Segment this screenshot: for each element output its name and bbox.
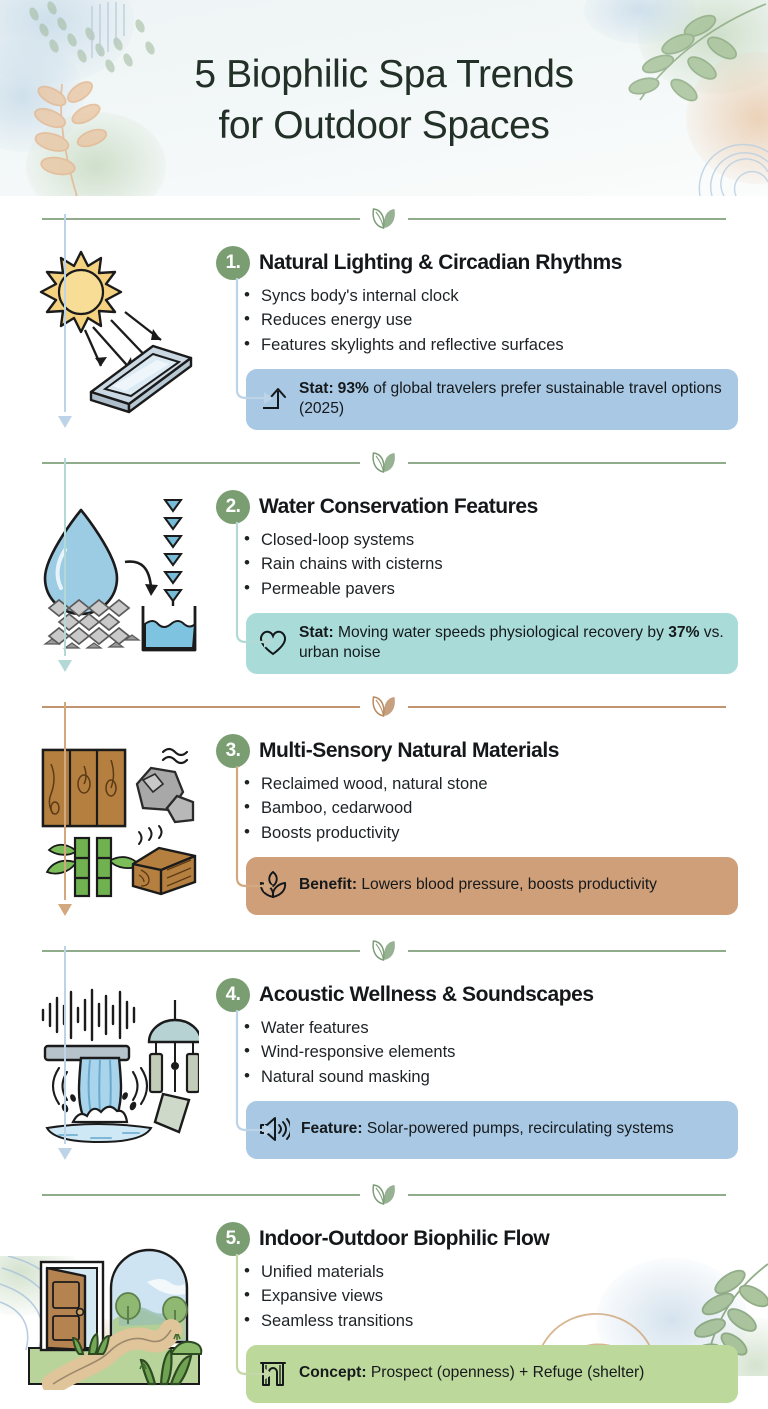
list-item: Features skylights and reflective surfac… — [244, 333, 738, 357]
leaf-divider-icon — [360, 450, 408, 474]
list-item: Water features — [244, 1016, 738, 1040]
trend-bullet-list: Unified materials Expansive views Seamle… — [244, 1260, 738, 1333]
stat-body: Solar-powered pumps, recirculating syste… — [363, 1120, 674, 1137]
waterfall-windchime-illustration — [16, 974, 212, 1166]
leaf-divider-icon — [360, 938, 408, 962]
stat-text: Feature: Solar-powered pumps, recirculat… — [301, 1119, 674, 1139]
trend-number-badge: 4. — [216, 978, 250, 1012]
trend-section-1: 1. Natural Lighting & Circadian Rhythms … — [0, 240, 768, 440]
section-divider — [0, 684, 768, 728]
trend-section-5: 5. Indoor-Outdoor Biophilic Flow Unified… — [0, 1216, 768, 1409]
trend-number-badge: 5. — [216, 1222, 250, 1256]
stat-label: Benefit: — [299, 876, 357, 893]
trend-content-3: 3. Multi-Sensory Natural Materials Recla… — [212, 730, 738, 922]
stat-text: Stat:93% of global travelers prefer sust… — [299, 379, 724, 420]
sections-container: 1. Natural Lighting & Circadian Rhythms … — [0, 196, 768, 1409]
stat-label: Concept: — [299, 1364, 367, 1381]
trend-header-3: 3. Multi-Sensory Natural Materials — [216, 734, 738, 768]
trend-content-4: 4. Acoustic Wellness & Soundscapes Water… — [212, 974, 738, 1166]
connector-elbow — [228, 1254, 274, 1384]
trend-header-2: 2. Water Conservation Features — [216, 490, 738, 524]
sun-skylight-illustration — [16, 242, 212, 434]
trend-title: Multi-Sensory Natural Materials — [259, 739, 559, 763]
trend-title: Indoor-Outdoor Biophilic Flow — [259, 1227, 549, 1251]
section-divider — [0, 440, 768, 484]
list-item: Unified materials — [244, 1260, 738, 1284]
stat-text: Stat: Moving water speeds physiological … — [299, 623, 724, 664]
trend-content-5: 5. Indoor-Outdoor Biophilic Flow Unified… — [212, 1218, 738, 1403]
connector-elbow — [228, 522, 274, 652]
trend-content-1: 1. Natural Lighting & Circadian Rhythms … — [212, 242, 738, 434]
wood-stone-bamboo-illustration — [16, 730, 212, 922]
trend-bullet-list: Closed-loop systems Rain chains with cis… — [244, 528, 738, 601]
trend-title: Acoustic Wellness & Soundscapes — [259, 983, 594, 1007]
list-item: Boosts productivity — [244, 821, 738, 845]
stat-body-before: Moving water speeds physiological recove… — [334, 624, 669, 641]
stat-callout-box: Concept: Prospect (openness) + Refuge (s… — [246, 1345, 738, 1403]
water-droplet-rainchain-illustration — [16, 486, 212, 678]
trend-section-2: 2. Water Conservation Features Closed-lo… — [0, 484, 768, 684]
connector-elbow — [228, 1010, 274, 1140]
trend-content-2: 2. Water Conservation Features Closed-lo… — [212, 486, 738, 678]
list-item: Rain chains with cisterns — [244, 552, 738, 576]
header-banner: 5 Biophilic Spa Trends for Outdoor Space… — [0, 0, 768, 196]
trend-section-4: 4. Acoustic Wellness & Soundscapes Water… — [0, 972, 768, 1172]
leaf-divider-icon — [360, 1182, 408, 1206]
list-item: Bamboo, cedarwood — [244, 796, 738, 820]
list-item: Wind-responsive elements — [244, 1040, 738, 1064]
trend-bullet-list: Water features Wind-responsive elements … — [244, 1016, 738, 1089]
list-item: Reclaimed wood, natural stone — [244, 772, 738, 796]
stat-callout-box: Benefit: Lowers blood pressure, boosts p… — [246, 857, 738, 915]
trend-header-1: 1. Natural Lighting & Circadian Rhythms — [216, 246, 738, 280]
section-divider — [0, 196, 768, 240]
stat-callout-box: Feature: Solar-powered pumps, recirculat… — [246, 1101, 738, 1159]
stat-text: Concept: Prospect (openness) + Refuge (s… — [299, 1363, 644, 1383]
flow-arrow-down — [56, 946, 74, 1160]
trend-section-3: 3. Multi-Sensory Natural Materials Recla… — [0, 728, 768, 928]
stat-body: Prospect (openness) + Refuge (shelter) — [367, 1364, 645, 1381]
section-divider — [0, 928, 768, 972]
stat-highlight: 37% — [668, 624, 699, 641]
connector-elbow — [228, 278, 274, 408]
trend-number-badge: 2. — [216, 490, 250, 524]
leaf-divider-icon — [360, 206, 408, 230]
trend-header-4: 4. Acoustic Wellness & Soundscapes — [216, 978, 738, 1012]
flow-arrow-down — [56, 702, 74, 916]
list-item: Natural sound masking — [244, 1065, 738, 1089]
stat-text: Benefit: Lowers blood pressure, boosts p… — [299, 875, 657, 895]
flow-arrow-down — [56, 214, 74, 428]
stat-label: Feature: — [301, 1120, 363, 1137]
stat-label: Stat: — [299, 624, 334, 641]
trend-bullet-list: Reclaimed wood, natural stone Bamboo, ce… — [244, 772, 738, 845]
stat-body: Lowers blood pressure, boosts productivi… — [357, 876, 657, 893]
door-landscape-illustration — [16, 1218, 212, 1403]
trend-header-5: 5. Indoor-Outdoor Biophilic Flow — [216, 1222, 738, 1256]
leaf-divider-icon — [360, 694, 408, 718]
stat-callout-box: Stat: Moving water speeds physiological … — [246, 613, 738, 675]
list-item: Seamless transitions — [244, 1309, 738, 1333]
trend-number-badge: 1. — [216, 246, 250, 280]
list-item: Closed-loop systems — [244, 528, 738, 552]
connector-elbow — [228, 766, 274, 896]
stat-callout-box: Stat:93% of global travelers prefer sust… — [246, 369, 738, 431]
list-item: Permeable pavers — [244, 577, 738, 601]
list-item: Expansive views — [244, 1284, 738, 1308]
list-item: Syncs body's internal clock — [244, 284, 738, 308]
trend-title: Water Conservation Features — [259, 495, 538, 519]
page-title-line2: for Outdoor Spaces — [219, 101, 550, 152]
trend-title: Natural Lighting & Circadian Rhythms — [259, 251, 622, 275]
trend-bullet-list: Syncs body's internal clock Reduces ener… — [244, 284, 738, 357]
stat-label: Stat: — [299, 380, 334, 397]
page-title-line1: 5 Biophilic Spa Trends — [194, 50, 573, 101]
flow-arrow-down — [56, 458, 74, 672]
list-item: Reduces energy use — [244, 308, 738, 332]
section-divider — [0, 1172, 768, 1216]
trend-number-badge: 3. — [216, 734, 250, 768]
stat-highlight: 93% — [338, 380, 369, 397]
